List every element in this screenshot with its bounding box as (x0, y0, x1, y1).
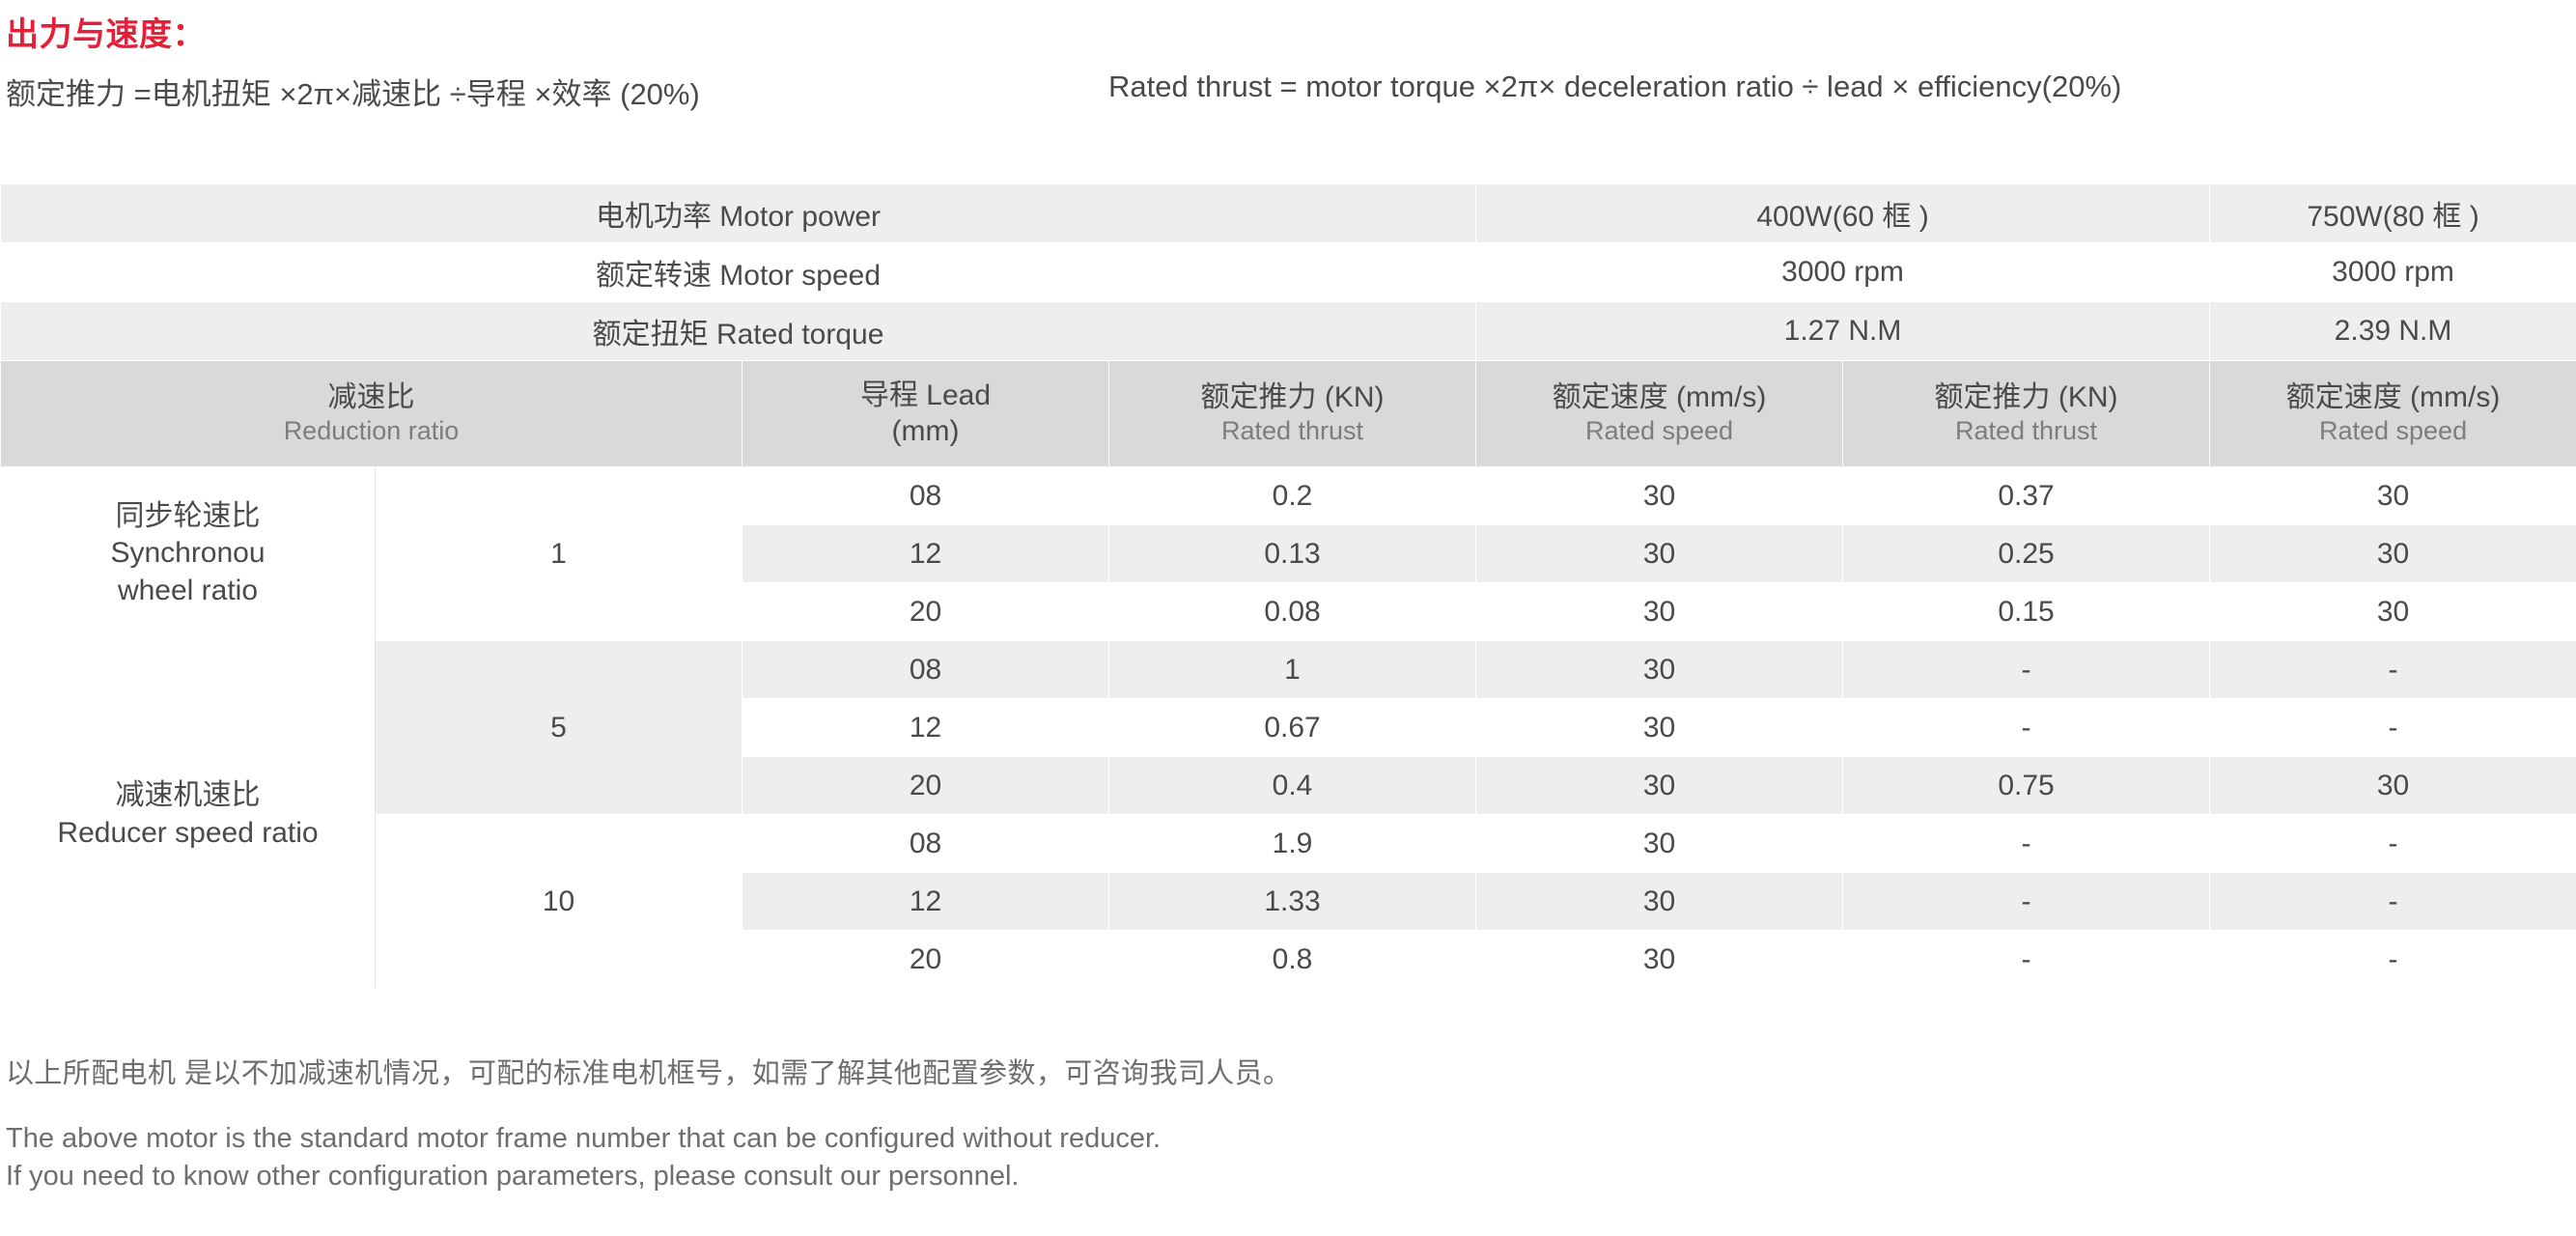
spec-sheet-page: 出力与速度： 额定推力 =电机扭矩 ×2π×减速比 ÷导程 ×效率 (20%) … (0, 0, 2576, 1236)
cell-speed-750w: - (2210, 641, 2576, 699)
cell-thrust-400w: 1.9 (1109, 815, 1476, 873)
cell-thrust-400w: 1 (1109, 641, 1476, 699)
cell-lead: 08 (742, 467, 1109, 525)
cell-lead: 08 (742, 815, 1109, 873)
table-row: 同步轮速比 Synchronou wheel ratio 1 08 0.2 30… (1, 467, 2576, 525)
table-row: 10 08 1.9 30 - - (1, 815, 2576, 873)
cell-speed-400w: 30 (1476, 931, 1843, 989)
footer-note-chinese: 以上所配电机 是以不加减速机情况，可配的标准电机框号，如需了解其他配置参数，可咨… (6, 1051, 1291, 1091)
cell-speed-400w: 30 (1476, 641, 1843, 699)
spec-label-rated-torque: 额定扭矩 Rated torque (1, 302, 1476, 361)
cell-thrust-750w: - (1843, 641, 2210, 699)
column-header-reduction-ratio-en: Reduction ratio (1, 415, 742, 447)
cell-speed-750w: 30 (2210, 757, 2576, 815)
cell-thrust-400w: 0.2 (1109, 467, 1476, 525)
cell-speed-750w: - (2210, 815, 2576, 873)
cell-thrust-400w: 0.67 (1109, 699, 1476, 757)
column-header-rated-thrust-400w: 额定推力 (KN) Rated thrust (1109, 361, 1476, 467)
table-row-motor-speed: 额定转速 Motor speed 3000 rpm 3000 rpm (1, 243, 2576, 302)
formula-chinese: 额定推力 =电机扭矩 ×2π×减速比 ÷导程 ×效率 (20%) (6, 70, 700, 113)
group-label-cn: 减速机速比 (1, 777, 375, 814)
table-row-rated-torque: 额定扭矩 Rated torque 1.27 N.M 2.39 N.M (1, 302, 2576, 361)
group-label-reducer-speed-ratio: 减速机速比 Reducer speed ratio (1, 641, 376, 989)
column-header-rated-speed-400w-en: Rated speed (1476, 415, 1842, 447)
footer-note-english: The above motor is the standard motor fr… (6, 1120, 1161, 1196)
cell-lead: 12 (742, 873, 1109, 931)
cell-speed-400w: 30 (1476, 757, 1843, 815)
cell-speed-400w: 30 (1476, 873, 1843, 931)
column-header-rated-thrust-750w: 额定推力 (KN) Rated thrust (1843, 361, 2210, 467)
column-header-rated-speed-400w-cn: 额定速度 (mm/s) (1476, 380, 1842, 416)
formula-row: 额定推力 =电机扭矩 ×2π×减速比 ÷导程 ×效率 (20%) Rated t… (6, 70, 2574, 114)
spec-value-750w-motor-speed: 3000 rpm (2210, 243, 2576, 302)
cell-speed-750w: - (2210, 873, 2576, 931)
cell-speed-750w: 30 (2210, 467, 2576, 525)
cell-lead: 12 (742, 699, 1109, 757)
column-header-rated-speed-750w: 额定速度 (mm/s) Rated speed (2210, 361, 2576, 467)
group-label-synchronous-wheel-ratio: 同步轮速比 Synchronou wheel ratio (1, 467, 376, 641)
cell-speed-400w: 30 (1476, 699, 1843, 757)
cell-thrust-750w: 0.25 (1843, 525, 2210, 583)
cell-thrust-750w: 0.75 (1843, 757, 2210, 815)
column-header-rated-thrust-750w-cn: 额定推力 (KN) (1843, 380, 2209, 416)
cell-thrust-750w: - (1843, 815, 2210, 873)
reduction-ratio-value-1: 1 (376, 467, 742, 641)
reduction-ratio-value-5: 5 (376, 641, 742, 815)
column-header-rated-thrust-400w-en: Rated thrust (1109, 415, 1475, 447)
cell-thrust-400w: 0.8 (1109, 931, 1476, 989)
spec-value-400w-motor-power: 400W(60 框 ) (1476, 184, 2210, 243)
cell-thrust-400w: 1.33 (1109, 873, 1476, 931)
reduction-ratio-value-10: 10 (376, 815, 742, 989)
cell-speed-400w: 30 (1476, 467, 1843, 525)
group-label-en-line2: wheel ratio (1, 573, 375, 609)
column-header-rated-thrust-750w-en: Rated thrust (1843, 415, 2209, 447)
cell-speed-400w: 30 (1476, 815, 1843, 873)
cell-thrust-750w: 0.15 (1843, 583, 2210, 641)
cell-speed-750w: 30 (2210, 583, 2576, 641)
cell-speed-400w: 30 (1476, 525, 1843, 583)
spec-label-motor-speed: 额定转速 Motor speed (1, 243, 1476, 302)
cell-lead: 12 (742, 525, 1109, 583)
column-header-rated-speed-750w-cn: 额定速度 (mm/s) (2210, 380, 2576, 416)
page-title: 出力与速度： (6, 8, 206, 55)
column-header-rated-thrust-400w-cn: 额定推力 (KN) (1109, 380, 1475, 416)
output-speed-table: 电机功率 Motor power 400W(60 框 ) 750W(80 框 )… (0, 183, 2576, 989)
column-header-rated-speed-400w: 额定速度 (mm/s) Rated speed (1476, 361, 1843, 467)
cell-thrust-750w: - (1843, 699, 2210, 757)
table-column-header-row: 减速比 Reduction ratio 导程 Lead (mm) 额定推力 (K… (1, 361, 2576, 467)
column-header-reduction-ratio-cn: 减速比 (1, 380, 742, 416)
cell-speed-750w: 30 (2210, 525, 2576, 583)
spec-value-400w-motor-speed: 3000 rpm (1476, 243, 2210, 302)
cell-speed-750w: - (2210, 699, 2576, 757)
column-header-reduction-ratio: 减速比 Reduction ratio (1, 361, 742, 467)
cell-speed-400w: 30 (1476, 583, 1843, 641)
cell-thrust-400w: 0.08 (1109, 583, 1476, 641)
table-row-motor-power: 电机功率 Motor power 400W(60 框 ) 750W(80 框 ) (1, 184, 2576, 243)
cell-thrust-750w: - (1843, 931, 2210, 989)
cell-lead: 20 (742, 757, 1109, 815)
spec-value-750w-rated-torque: 2.39 N.M (2210, 302, 2576, 361)
table-row: 减速机速比 Reducer speed ratio 5 08 1 30 - - (1, 641, 2576, 699)
spec-value-750w-motor-power: 750W(80 框 ) (2210, 184, 2576, 243)
column-header-rated-speed-750w-en: Rated speed (2210, 415, 2576, 447)
group-label-en-line1: Synchronou (1, 535, 375, 572)
cell-lead: 20 (742, 583, 1109, 641)
formula-english: Rated thrust = motor torque ×2π× deceler… (1108, 70, 2121, 104)
cell-speed-750w: - (2210, 931, 2576, 989)
spec-label-motor-power: 电机功率 Motor power (1, 184, 1476, 243)
group-label-cn: 同步轮速比 (1, 498, 375, 535)
cell-thrust-750w: 0.37 (1843, 467, 2210, 525)
column-header-lead-unit: (mm) (742, 414, 1108, 450)
cell-lead: 20 (742, 931, 1109, 989)
cell-thrust-400w: 0.13 (1109, 525, 1476, 583)
cell-lead: 08 (742, 641, 1109, 699)
spec-value-400w-rated-torque: 1.27 N.M (1476, 302, 2210, 361)
column-header-lead-cn: 导程 Lead (742, 379, 1108, 414)
cell-thrust-750w: - (1843, 873, 2210, 931)
column-header-lead: 导程 Lead (mm) (742, 361, 1109, 467)
cell-thrust-400w: 0.4 (1109, 757, 1476, 815)
group-label-en-line1: Reducer speed ratio (1, 815, 375, 852)
